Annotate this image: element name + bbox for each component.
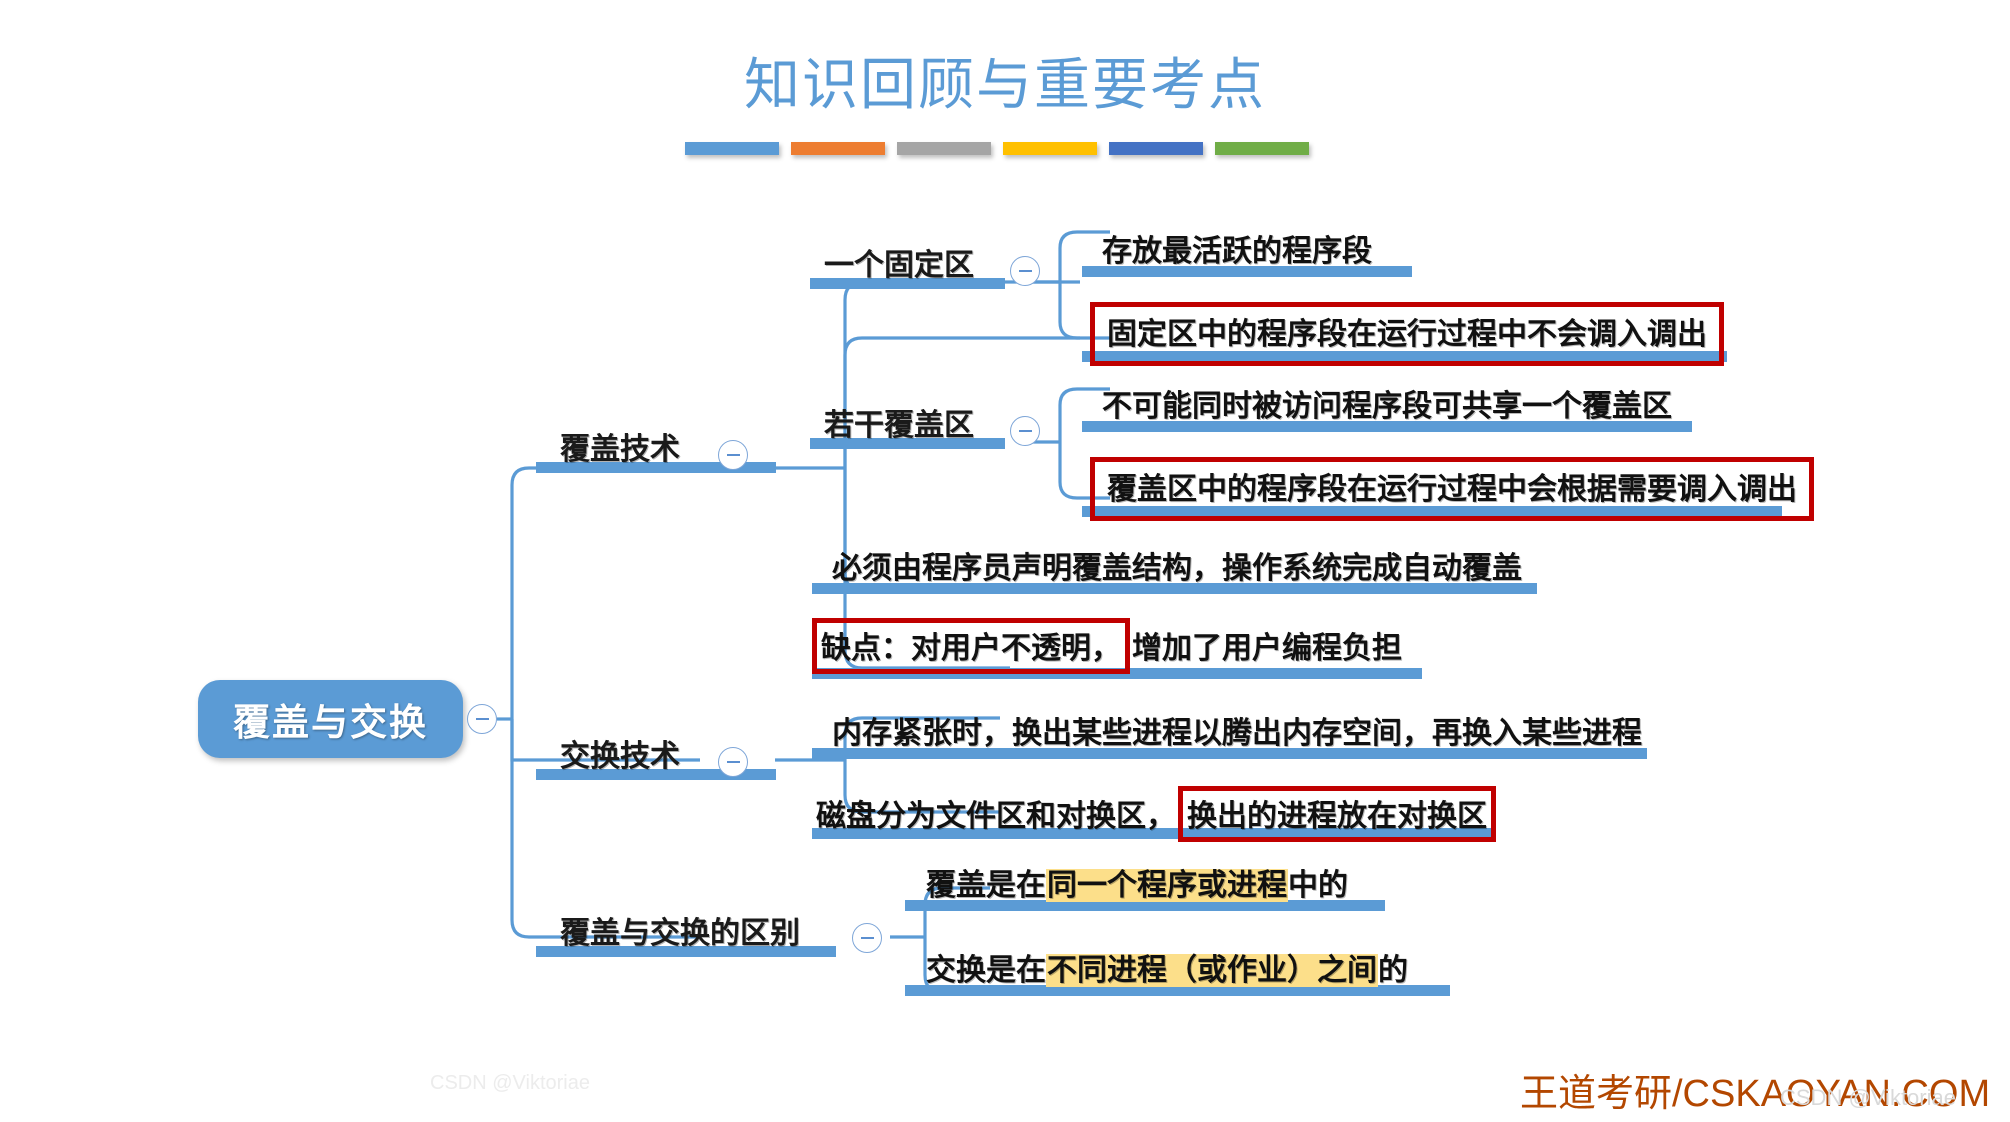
toggle-root[interactable] bbox=[467, 704, 497, 734]
branch-label-difference: 覆盖与交换的区别 bbox=[556, 908, 804, 956]
leaf-label-overlay-area-swap: 覆盖区中的程序段在运行过程中会根据需要调入调出 bbox=[1101, 464, 1803, 512]
accent-bar-gray bbox=[897, 142, 991, 155]
toggle-branch-swapping-technique[interactable] bbox=[718, 747, 748, 777]
mindmap-root-node[interactable]: 覆盖与交换 bbox=[198, 680, 463, 758]
accent-bar-dark-blue bbox=[1109, 142, 1203, 155]
watermark-csdn: CSDN @Viktoriae bbox=[1780, 1085, 1956, 1111]
minus-icon bbox=[476, 718, 489, 720]
leaf-label-pre: 覆盖是在 bbox=[926, 869, 1046, 902]
leaf-store-most-active[interactable]: 存放最活跃的程序段 bbox=[1096, 226, 1378, 274]
branch-node-swapping-technique[interactable]: 交换技术 bbox=[556, 731, 684, 779]
leaf-label-post: 的 bbox=[1378, 954, 1408, 987]
red-highlight-box: 覆盖区中的程序段在运行过程中会根据需要调入调出 bbox=[1090, 457, 1814, 521]
root-label: 覆盖与交换 bbox=[233, 692, 428, 746]
leaf-disk-partition[interactable]: 磁盘分为文件区和对换区， 换出的进程放在对换区 bbox=[816, 786, 1496, 842]
red-highlight-box: 缺点：对用户不透明， bbox=[812, 618, 1130, 674]
leaf-label-highlight: 同一个程序或进程 bbox=[1046, 869, 1288, 902]
leaf-label-disadvantage-boxed: 缺点：对用户不透明， bbox=[821, 632, 1121, 665]
leaf-fixed-area-no-swap[interactable]: 固定区中的程序段在运行过程中不会调入调出 bbox=[1090, 302, 1724, 366]
leaf-swap-between-processes-text: 交换是在不同进程（或作业）之间的 bbox=[920, 954, 1414, 991]
leaf-label-disk-partition-boxed: 换出的进程放在对换区 bbox=[1187, 800, 1487, 833]
leaf-label-disk-partition-plain: 磁盘分为文件区和对换区， bbox=[816, 791, 1178, 835]
minus-icon bbox=[727, 761, 740, 763]
toggle-branch-overlay-technique[interactable] bbox=[718, 440, 748, 470]
minus-icon bbox=[727, 454, 740, 456]
leaf-label-disadvantage-rest: 增加了用户编程负担 bbox=[1130, 623, 1402, 667]
leaf-overlay-area-swap[interactable]: 覆盖区中的程序段在运行过程中会根据需要调入调出 bbox=[1090, 457, 1814, 521]
toggle-branch-difference[interactable] bbox=[852, 923, 882, 953]
leaf-label-highlight: 不同进程（或作业）之间 bbox=[1046, 954, 1378, 987]
sub-node-fixed-area[interactable]: 一个固定区 bbox=[820, 240, 978, 288]
branch-node-difference[interactable]: 覆盖与交换的区别 bbox=[556, 908, 804, 956]
leaf-disadvantage[interactable]: 缺点：对用户不透明， 增加了用户编程负担 bbox=[812, 618, 1402, 674]
leaf-label-pre: 交换是在 bbox=[926, 954, 1046, 987]
leaf-label-memory-tight: 内存紧张时，换出某些进程以腾出内存空间，再换入某些进程 bbox=[826, 708, 1648, 756]
minus-icon bbox=[861, 937, 874, 939]
minus-icon bbox=[1019, 270, 1032, 272]
sub-node-overlay-areas[interactable]: 若干覆盖区 bbox=[820, 400, 978, 448]
leaf-label-share-overlay-area: 不可能同时被访问程序段可共享一个覆盖区 bbox=[1096, 381, 1678, 429]
accent-bar-blue bbox=[685, 142, 779, 155]
red-highlight-box: 固定区中的程序段在运行过程中不会调入调出 bbox=[1090, 302, 1724, 366]
accent-bar-yellow bbox=[1003, 142, 1097, 155]
accent-bar-green bbox=[1215, 142, 1309, 155]
leaf-programmer-declares[interactable]: 必须由程序员声明覆盖结构，操作系统完成自动覆盖 bbox=[826, 543, 1528, 591]
sub-label-overlay-areas: 若干覆盖区 bbox=[820, 400, 978, 448]
leaf-memory-tight[interactable]: 内存紧张时，换出某些进程以腾出内存空间，再换入某些进程 bbox=[826, 708, 1648, 756]
toggle-sub-fixed-area[interactable] bbox=[1010, 256, 1040, 286]
accent-bar-group bbox=[685, 142, 1309, 155]
leaf-label-store-most-active: 存放最活跃的程序段 bbox=[1096, 226, 1378, 274]
branch-node-overlay-technique[interactable]: 覆盖技术 bbox=[556, 424, 684, 472]
leaf-label-fixed-area-no-swap: 固定区中的程序段在运行过程中不会调入调出 bbox=[1101, 309, 1713, 357]
toggle-sub-overlay-areas[interactable] bbox=[1010, 416, 1040, 446]
leaf-share-overlay-area[interactable]: 不可能同时被访问程序段可共享一个覆盖区 bbox=[1096, 381, 1678, 429]
leaf-label-programmer-declares: 必须由程序员声明覆盖结构，操作系统完成自动覆盖 bbox=[826, 543, 1528, 591]
sub-label-fixed-area: 一个固定区 bbox=[820, 240, 978, 288]
leaf-overlay-same-process[interactable]: 覆盖是在同一个程序或进程中的 bbox=[920, 860, 1354, 904]
slide-canvas: 知识回顾与重要考点 bbox=[0, 0, 2010, 1122]
minus-icon bbox=[1019, 430, 1032, 432]
branch-label-overlay-technique: 覆盖技术 bbox=[556, 424, 684, 472]
page-title: 知识回顾与重要考点 bbox=[0, 40, 2010, 121]
red-highlight-box: 换出的进程放在对换区 bbox=[1178, 786, 1496, 842]
watermark-csdn-faint: CSDN @Viktoriae bbox=[430, 1072, 590, 1095]
accent-bar-orange bbox=[791, 142, 885, 155]
leaf-swap-between-processes[interactable]: 交换是在不同进程（或作业）之间的 bbox=[920, 945, 1414, 989]
leaf-overlay-same-process-text: 覆盖是在同一个程序或进程中的 bbox=[920, 869, 1354, 906]
leaf-label-post: 中的 bbox=[1288, 869, 1348, 902]
branch-label-swapping-technique: 交换技术 bbox=[556, 731, 684, 779]
